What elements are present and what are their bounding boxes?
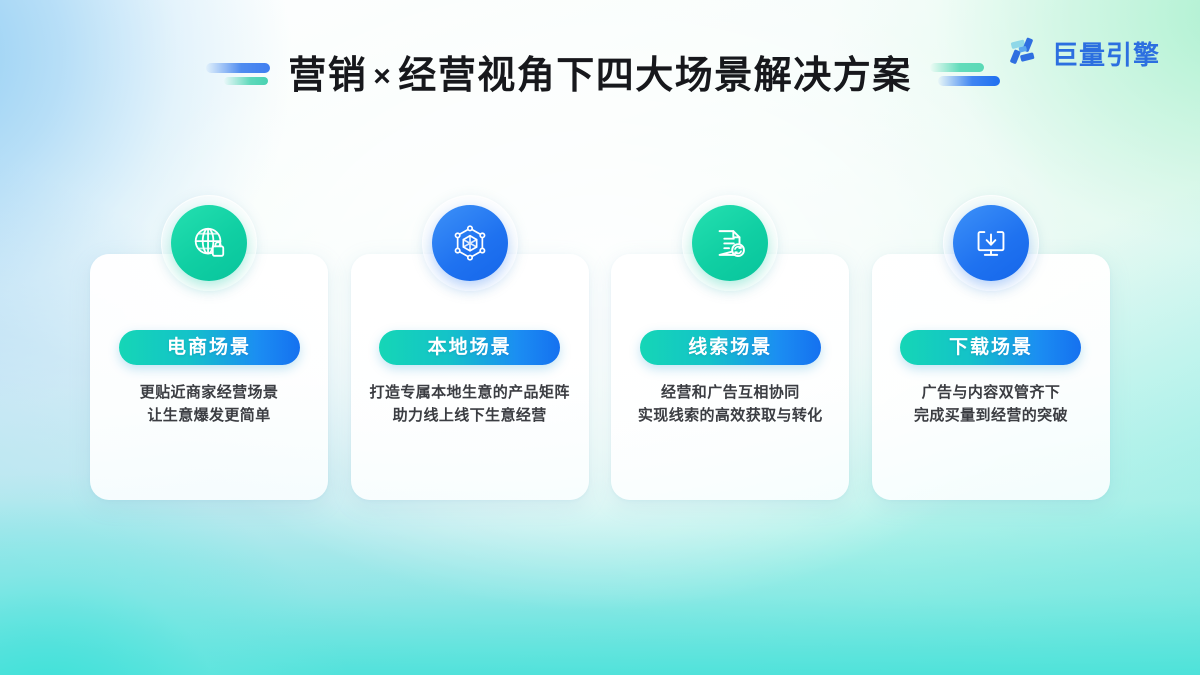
scenario-description: 更贴近商家经营场景 让生意爆发更简单 xyxy=(140,382,279,427)
decoration-bar-teal xyxy=(224,77,268,85)
scenario-card-leads[interactable]: 线索场景 经营和广告互相协同 实现线索的高效获取与转化 xyxy=(611,254,849,500)
decoration-bar-blue xyxy=(206,63,270,73)
icon-disc xyxy=(171,205,247,281)
slide-root: 巨量引擎 营销 × 经营视角下四大场景解决方案 xyxy=(0,0,1200,675)
scenario-description-line-2: 助力线上线下生意经营 xyxy=(370,405,570,428)
decoration-bar-blue xyxy=(938,76,1000,86)
scenario-card-list: 电商场景 更贴近商家经营场景 让生意爆发更简单 xyxy=(90,254,1110,500)
icon-disc xyxy=(692,205,768,281)
monitor-download-icon xyxy=(972,224,1010,262)
globe-shopping-icon xyxy=(190,224,228,262)
icon-badge xyxy=(682,195,778,291)
title-decoration-left-icon xyxy=(198,59,272,93)
scenario-pill[interactable]: 线索场景 xyxy=(640,330,821,365)
scenario-card-download[interactable]: 下载场景 广告与内容双管齐下 完成买量到经营的突破 xyxy=(872,254,1110,500)
icon-badge xyxy=(161,195,257,291)
title-decoration-right-icon xyxy=(928,59,1002,93)
document-sync-icon xyxy=(711,224,749,262)
scenario-label: 本地场景 xyxy=(428,338,512,357)
hexagon-cube-network-icon xyxy=(451,224,489,262)
brand-logo: 巨量引擎 xyxy=(1009,36,1160,73)
scenario-description-line-2: 完成买量到经营的突破 xyxy=(914,405,1068,428)
scenario-pill[interactable]: 电商场景 xyxy=(119,330,300,365)
page-title-part-2: 经营视角下四大场景解决方案 xyxy=(398,57,912,95)
icon-disc xyxy=(432,205,508,281)
brand-logo-text: 巨量引擎 xyxy=(1052,42,1160,68)
page-title-separator: × xyxy=(369,62,396,92)
scenario-card-ecommerce[interactable]: 电商场景 更贴近商家经营场景 让生意爆发更简单 xyxy=(90,254,328,500)
ocean-engine-pinwheel-icon xyxy=(1009,36,1043,73)
icon-disc xyxy=(953,205,1029,281)
scenario-description-line-2: 让生意爆发更简单 xyxy=(140,405,279,428)
scenario-label: 电商场景 xyxy=(167,338,251,357)
scenario-description: 广告与内容双管齐下 完成买量到经营的突破 xyxy=(914,382,1068,427)
scenario-description-line-2: 实现线索的高效获取与转化 xyxy=(638,405,823,428)
scenario-pill[interactable]: 本地场景 xyxy=(379,330,560,365)
scenario-pill[interactable]: 下载场景 xyxy=(900,330,1081,365)
scenario-label: 线索场景 xyxy=(688,338,772,357)
scenario-card-local[interactable]: 本地场景 打造专属本地生意的产品矩阵 助力线上线下生意经营 xyxy=(351,254,589,500)
scenario-label: 下载场景 xyxy=(949,338,1033,357)
scenario-description-line-1: 广告与内容双管齐下 xyxy=(922,384,1061,401)
scenario-description: 打造专属本地生意的产品矩阵 助力线上线下生意经营 xyxy=(370,382,570,427)
icon-badge xyxy=(422,195,518,291)
scenario-description-line-1: 更贴近商家经营场景 xyxy=(140,384,279,401)
page-title-part-1: 营销 xyxy=(288,57,367,95)
page-title: 营销 × 经营视角下四大场景解决方案 xyxy=(288,57,912,95)
scenario-description-line-1: 打造专属本地生意的产品矩阵 xyxy=(370,384,570,401)
scenario-description-line-1: 经营和广告互相协同 xyxy=(661,384,800,401)
decoration-bar-teal xyxy=(930,63,984,72)
icon-badge xyxy=(943,195,1039,291)
scenario-description: 经营和广告互相协同 实现线索的高效获取与转化 xyxy=(638,382,823,427)
